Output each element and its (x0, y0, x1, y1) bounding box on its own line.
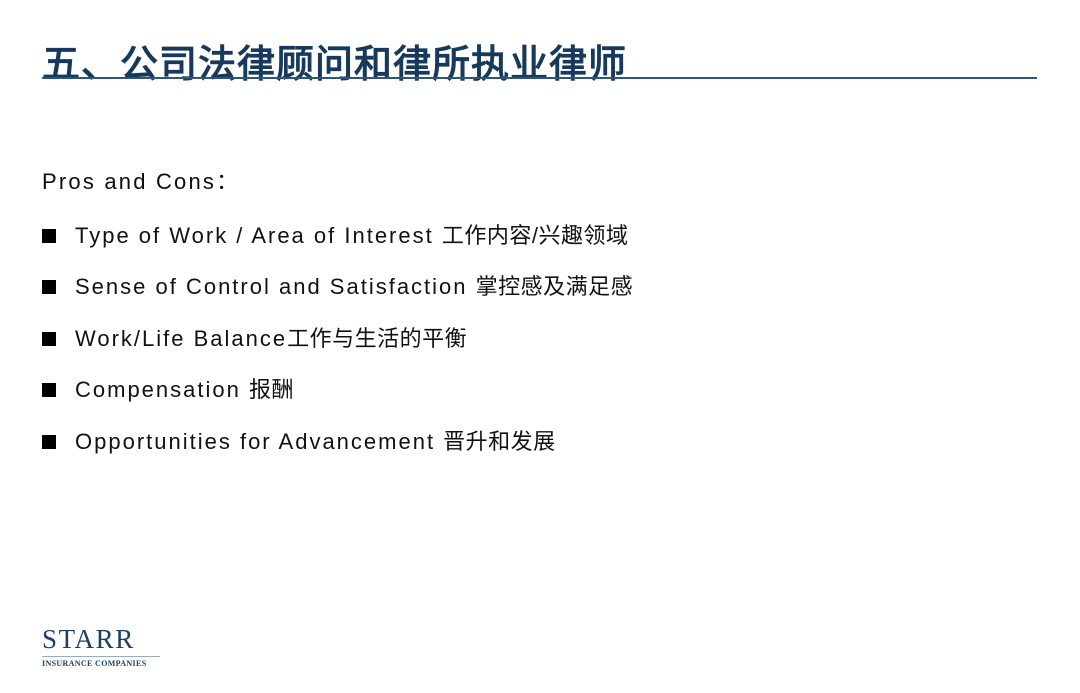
list-item-text-zh: 工作与生活的平衡 (287, 326, 467, 351)
list-item-text-zh: 掌控感及满足感 (476, 274, 634, 299)
list-item-text-en: Compensation (75, 377, 249, 402)
logo-tagline: INSURANCE COMPANIES (42, 660, 160, 668)
list-item-text-zh: 工作内容/兴趣领域 (442, 223, 629, 248)
square-bullet-icon (42, 332, 56, 346)
list-item-text: Compensation 报酬 (75, 376, 294, 405)
list-item-text-en: Work/Life Balance (75, 326, 287, 351)
square-bullet-icon (42, 280, 56, 294)
title-divider (42, 77, 1037, 79)
list-item-text-en: Sense of Control and Satisfaction (75, 274, 476, 299)
list-item: Compensation 报酬 (42, 376, 1032, 405)
list-item-text-en: Type of Work / Area of Interest (75, 223, 442, 248)
list-item-text: Work/Life Balance工作与生活的平衡 (75, 325, 467, 354)
square-bullet-icon (42, 435, 56, 449)
list-item-text-zh: 报酬 (249, 377, 294, 402)
list-item-text-en: Opportunities for Advancement (75, 429, 443, 454)
square-bullet-icon (42, 229, 56, 243)
list-item-text: Opportunities for Advancement 晋升和发展 (75, 428, 556, 457)
list-item: Type of Work / Area of Interest 工作内容/兴趣领… (42, 222, 1032, 251)
pros-and-cons-label: Pros and Cons： (42, 168, 1032, 196)
slide-body: Pros and Cons： Type of Work / Area of In… (42, 168, 1032, 456)
list-item: Sense of Control and Satisfaction 掌控感及满足… (42, 273, 1032, 302)
list-item-text-zh: 晋升和发展 (443, 429, 556, 454)
list-item: Opportunities for Advancement 晋升和发展 (42, 428, 1032, 457)
slide-canvas: 五、公司法律顾问和律所执业律师 Pros and Cons： Type of W… (0, 0, 1080, 693)
list-item-text: Sense of Control and Satisfaction 掌控感及满足… (75, 273, 633, 302)
starr-logo: STARR INSURANCE COMPANIES (42, 626, 160, 668)
logo-divider (42, 656, 160, 657)
list-item-text: Type of Work / Area of Interest 工作内容/兴趣领… (75, 222, 628, 251)
square-bullet-icon (42, 383, 56, 397)
list-item: Work/Life Balance工作与生活的平衡 (42, 325, 1032, 354)
page-title: 五、公司法律顾问和律所执业律师 (42, 41, 627, 90)
logo-wordmark: STARR (42, 626, 160, 653)
bullet-list: Type of Work / Area of Interest 工作内容/兴趣领… (42, 222, 1032, 457)
